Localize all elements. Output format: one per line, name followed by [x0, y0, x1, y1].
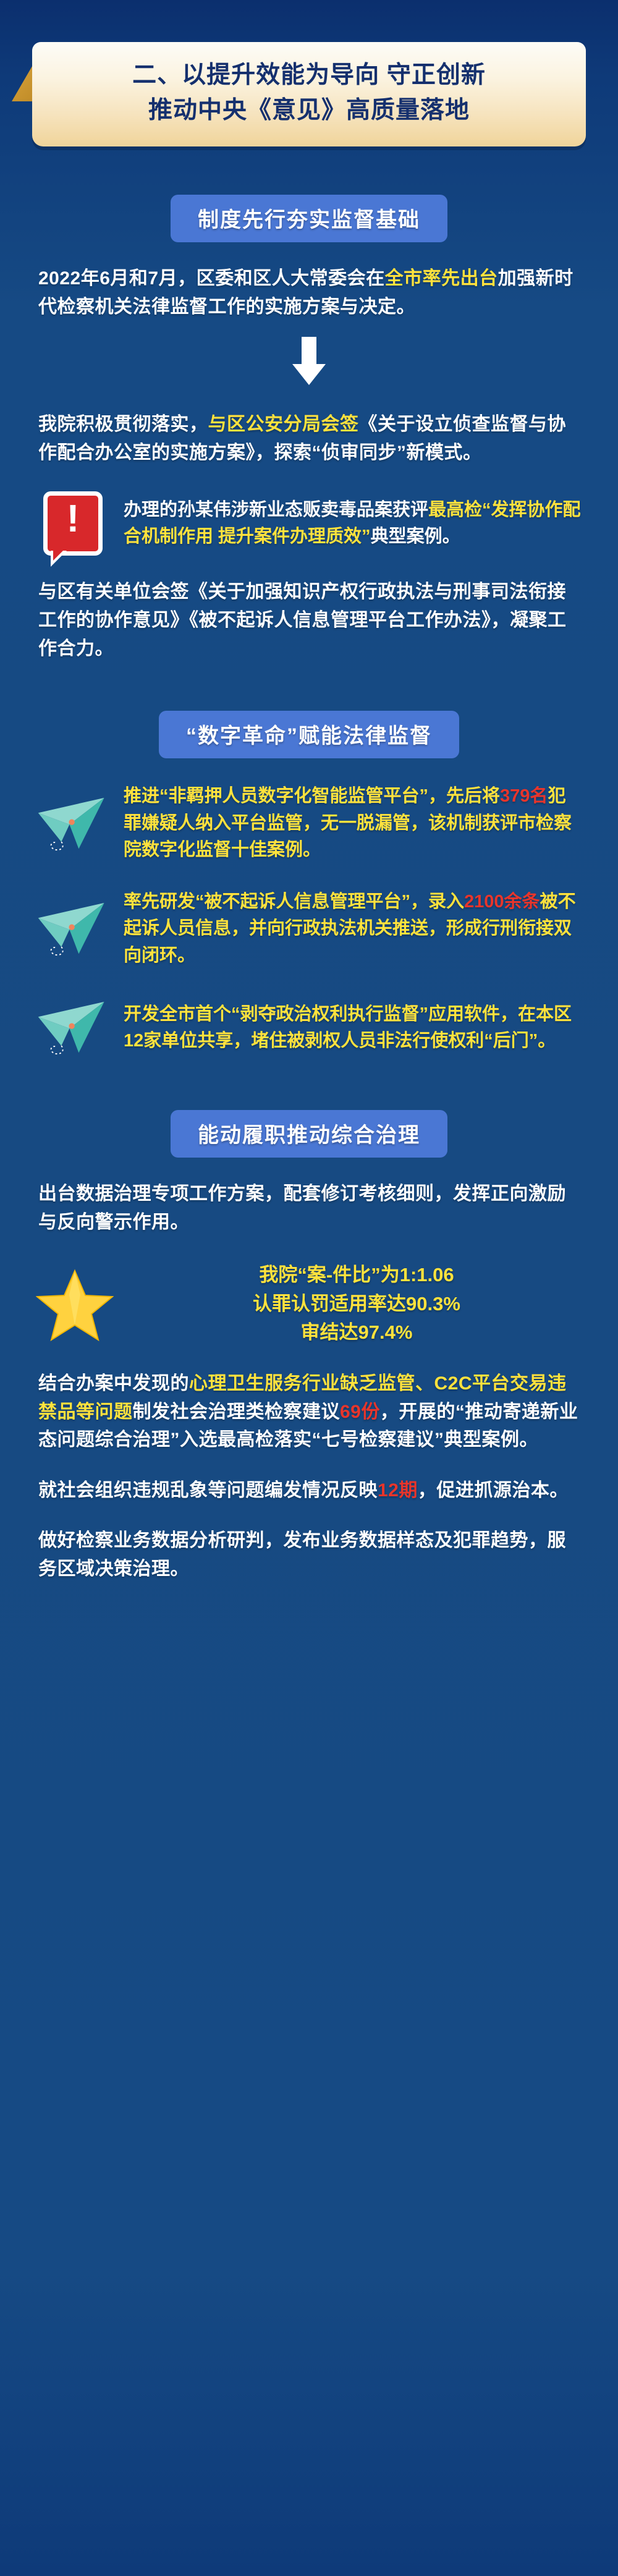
item1-highlight-platform: “非羁押人员数字化智能监管平台” [159, 786, 428, 806]
item2-part2: ，录入 [410, 892, 464, 912]
stat-line-2: 认罪认罚适用率达90.3% [131, 1290, 582, 1319]
bottom-padding [0, 1583, 618, 1627]
paper-plane-icon [36, 895, 110, 963]
digital-item-1-row: 推进“非羁押人员数字化智能监管平台”，先后将379名犯罪嫌疑人纳入平台监管，无一… [36, 783, 582, 864]
stat-line-3: 审结达97.4% [131, 1318, 582, 1347]
section-badge-digital-revolution: “数字革命”赋能法律监督 [159, 711, 459, 758]
case-icon-cell: ! [36, 491, 110, 556]
item2-highlight-platform: “被不起诉人信息管理平台” [195, 892, 410, 912]
digital-item-2-text: 率先研发“被不起诉人信息管理平台”，录入2100余条被不起诉人员信息，并向行政执… [124, 889, 582, 970]
paper-plane-icon [36, 790, 110, 858]
star-icon [36, 1267, 114, 1341]
section-badge-comprehensive-governance: 能动履职推动综合治理 [171, 1110, 447, 1158]
gov-para3-part3: ，促进抓源治本。 [418, 1480, 569, 1501]
item1-part2: ，先后将 [428, 786, 500, 806]
section-1-paragraph-3: 与区有关单位会签《关于加强知识产权行政执法与刑事司法衔接工作的协作意见》《被不起… [38, 578, 580, 663]
page-title-line2: 推动中央《意见》高质量落地 [47, 93, 571, 129]
para3-text: 与区有关单位会签《关于加强知识产权行政执法与刑事司法衔接工作的协作意见》《被不起… [38, 582, 567, 658]
case-highlight-row: ! 办理的孙某伟涉新业态贩卖毒品案获评最高检“发挥协作配合机制作用 提升案件办理… [36, 491, 582, 556]
case-highlight-text: 办理的孙某伟涉新业态贩卖毒品案获评最高检“发挥协作配合机制作用 提升案件办理质效… [124, 497, 582, 551]
item1-highlight-count: 379名 [500, 786, 548, 806]
exclamation-tail-inner [53, 550, 64, 561]
gov-para3-highlight-count: 12 [378, 1480, 399, 1501]
header-banner: 二、以提升效能为导向 守正创新 推动中央《意见》高质量落地 [32, 42, 586, 146]
gov-para2-highlight-count: 69份 [340, 1402, 380, 1422]
section-3-paragraph-3: 就社会组织违规乱象等问题编发情况反映12期，促进抓源治本。 [38, 1477, 580, 1505]
digital-item-2-icon-cell [36, 895, 110, 963]
item3-part1: 开发全市首个 [124, 1004, 231, 1024]
section-3-paragraph-4: 做好检察业务数据分析研判，发布业务数据样态及犯罪趋势，服务区域决策治理。 [38, 1527, 580, 1583]
arrow-head [292, 364, 326, 385]
gov-para2-part1: 结合办案中发现的 [38, 1373, 189, 1394]
gov-para2-part2: 制发社会治理类检察建议 [133, 1402, 341, 1422]
digital-item-3-row: 开发全市首个“剥夺政治权利执行监督”应用软件，在本区12家单位共享，堵住被剥权人… [36, 994, 582, 1062]
section-1-paragraph-2: 我院积极贯彻落实，与区公安分局会签《关于设立侦查监督与协作配合办公室的实施方案》… [38, 410, 580, 467]
statistics-text: 我院“案-件比”为1:1.06 认罪认罚适用率达90.3% 审结达97.4% [131, 1261, 582, 1347]
exclamation-glyph: ! [43, 500, 103, 538]
section-3-paragraph-1: 出台数据治理专项工作方案，配套修订考核细则，发挥正向激励与反向警示作用。 [38, 1180, 580, 1236]
case-part1: 办理的孙某伟涉新业态贩卖毒品案获评 [124, 500, 428, 520]
gov-para1-text: 出台数据治理专项工作方案，配套修订考核细则，发挥正向激励与反向警示作用。 [38, 1184, 566, 1232]
digital-item-3-text: 开发全市首个“剥夺政治权利执行监督”应用软件，在本区12家单位共享，堵住被剥权人… [124, 1001, 582, 1055]
case-part2: 典型案例。 [371, 527, 460, 546]
exclamation-icon: ! [43, 491, 103, 556]
down-arrow-icon [292, 337, 326, 385]
para1-highlight-citywide-first: 全市率先出台 [385, 268, 498, 289]
page-title-line1: 二、以提升效能为导向 守正创新 [47, 58, 571, 93]
digital-item-1-icon-cell [36, 790, 110, 858]
banner-fold-decoration [12, 63, 34, 101]
gov-para4-text: 做好检察业务数据分析研判，发布业务数据样态及犯罪趋势，服务区域决策治理。 [38, 1530, 566, 1579]
gov-para3-part1: 就社会组织违规乱象等问题编发情况反映 [38, 1480, 378, 1501]
digital-item-3-icon-cell [36, 994, 110, 1062]
arrow-shaft [302, 337, 316, 365]
section-1-badge-row: 制度先行夯实监督基础 [0, 195, 618, 242]
gov-para3-part2: 期 [399, 1480, 418, 1501]
digital-item-2-row: 率先研发“被不起诉人信息管理平台”，录入2100余条被不起诉人员信息，并向行政执… [36, 889, 582, 970]
section-3-badge-row: 能动履职推动综合治理 [0, 1110, 618, 1158]
item2-part1: 率先研发 [124, 892, 195, 912]
header-banner-wrapper: 二、以提升效能为导向 守正创新 推动中央《意见》高质量落地 [32, 37, 586, 146]
para1-part1: 2022年6月和7月，区委和区人大常委会在 [38, 268, 385, 289]
section-1-paragraph-1: 2022年6月和7月，区委和区人大常委会在全市率先出台加强新时代检察机关法律监督… [38, 265, 580, 321]
para2-highlight-police-cosign: 与区公安分局会签 [208, 414, 359, 434]
section-badge-institution: 制度先行夯实监督基础 [171, 195, 447, 242]
item1-part1: 推进 [124, 786, 159, 806]
section-3-paragraph-2: 结合办案中发现的心理卫生服务行业缺乏监管、C2C平台交易违禁品等问题制发社会治理… [38, 1370, 580, 1454]
digital-item-1-text: 推进“非羁押人员数字化智能监管平台”，先后将379名犯罪嫌疑人纳入平台监管，无一… [124, 783, 582, 864]
paper-plane-icon [36, 994, 110, 1062]
section-2-badge-row: “数字革命”赋能法律监督 [0, 711, 618, 758]
para2-part1: 我院积极贯彻落实， [38, 414, 208, 434]
down-arrow-wrapper [0, 337, 618, 388]
infographic-page: 二、以提升效能为导向 守正创新 推动中央《意见》高质量落地 制度先行夯实监督基础… [0, 0, 618, 2576]
star-icon-cell [36, 1267, 122, 1341]
stat-line-1: 我院“案-件比”为1:1.06 [131, 1261, 582, 1290]
item2-highlight-count: 2100余条 [464, 892, 540, 912]
item3-highlight-software: “剥夺政治权利执行监督” [231, 1004, 428, 1024]
statistics-row: 我院“案-件比”为1:1.06 认罪认罚适用率达90.3% 审结达97.4% [36, 1261, 582, 1347]
